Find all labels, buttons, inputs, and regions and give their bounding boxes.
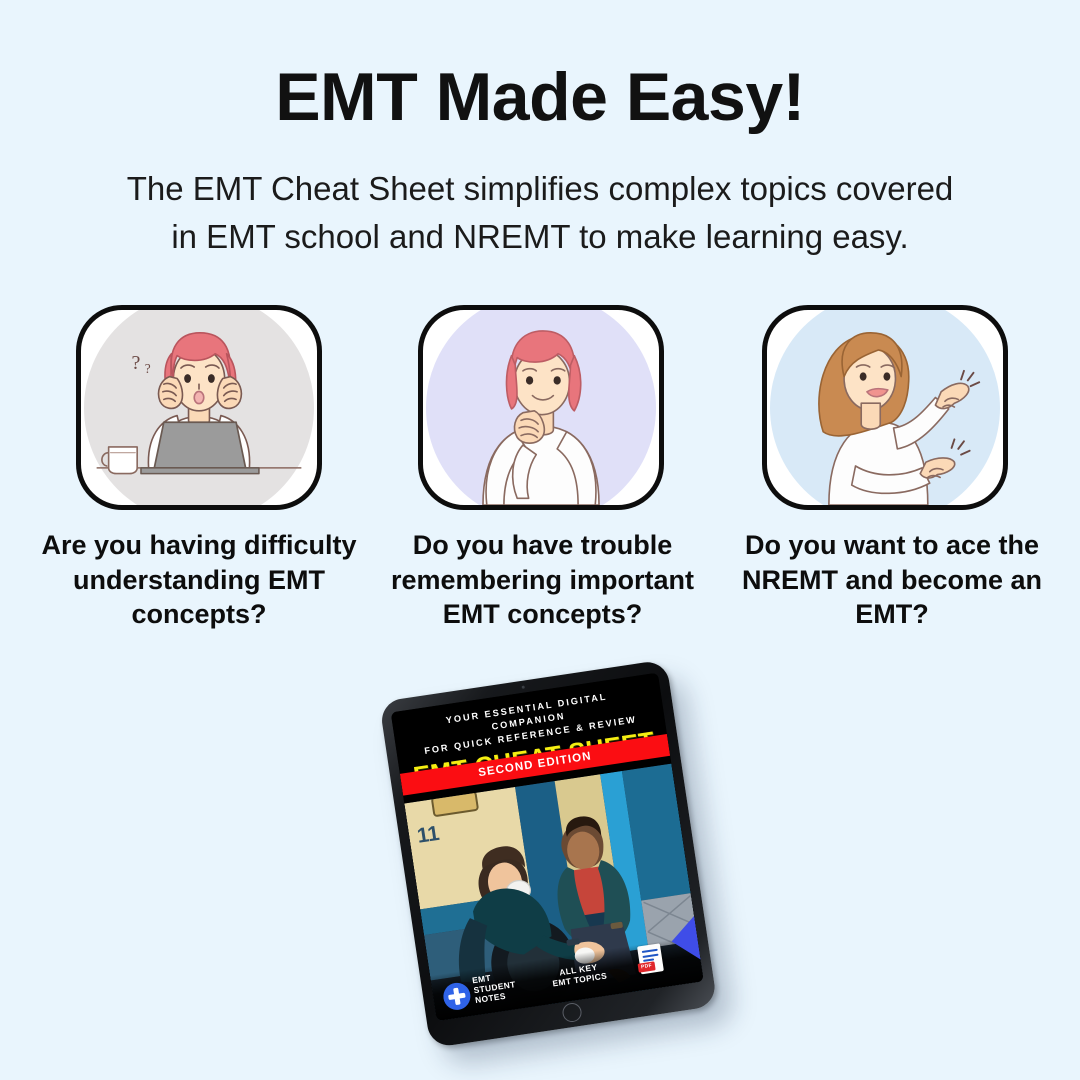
badge-all-key-emt-topics: ALL KEY EMT TOPICS xyxy=(551,962,608,990)
product-tablet-mockup[interactable]: YOUR ESSENTIAL DIGITAL COMPANION FOR QUI… xyxy=(379,658,729,1058)
subtitle-line-2: in EMT school and NREMT to make learning… xyxy=(0,213,1080,261)
pdf-file-icon: PDF xyxy=(637,943,664,974)
badge-emt-student-notes: EMT STUDENT NOTES xyxy=(472,970,518,1006)
subtitle-line-1: The EMT Cheat Sheet simplifies complex t… xyxy=(0,165,1080,213)
front-camera-icon xyxy=(522,685,526,689)
card-aspiring-emt xyxy=(762,305,1008,510)
blue-arrow-icon xyxy=(668,916,700,963)
tablet-frame: YOUR ESSENTIAL DIGITAL COMPANION FOR QUI… xyxy=(379,659,718,1048)
home-button[interactable] xyxy=(561,1002,583,1024)
woman-thinking-icon xyxy=(423,310,659,505)
pdf-icon-label: PDF xyxy=(638,961,656,972)
page-title: EMT Made Easy! xyxy=(0,62,1080,133)
svg-text:11: 11 xyxy=(416,822,442,848)
woman-pointing-icon xyxy=(767,310,1003,505)
page-subtitle: The EMT Cheat Sheet simplifies complex t… xyxy=(0,165,1080,261)
card-forgetful-student xyxy=(418,305,664,510)
cover-photo: 11 xyxy=(404,764,704,1021)
illustration-card-row: ? ? xyxy=(0,305,1080,515)
caption-confused-student: Are you having difficulty understanding … xyxy=(10,528,388,632)
woman-confused-at-laptop-icon: ? ? xyxy=(81,310,317,505)
svg-text:?: ? xyxy=(145,361,151,376)
tablet-screen: YOUR ESSENTIAL DIGITAL COMPANION FOR QUI… xyxy=(391,673,704,1021)
medical-cross-icon xyxy=(442,981,473,1012)
poster-canvas: EMT Made Easy! The EMT Cheat Sheet simpl… xyxy=(0,0,1080,1080)
caption-forgetful-student: Do you have trouble remembering importan… xyxy=(370,528,715,632)
card-confused-student: ? ? xyxy=(76,305,322,510)
caption-aspiring-emt: Do you want to ace the NREMT and become … xyxy=(712,528,1072,632)
svg-text:?: ? xyxy=(131,352,140,374)
